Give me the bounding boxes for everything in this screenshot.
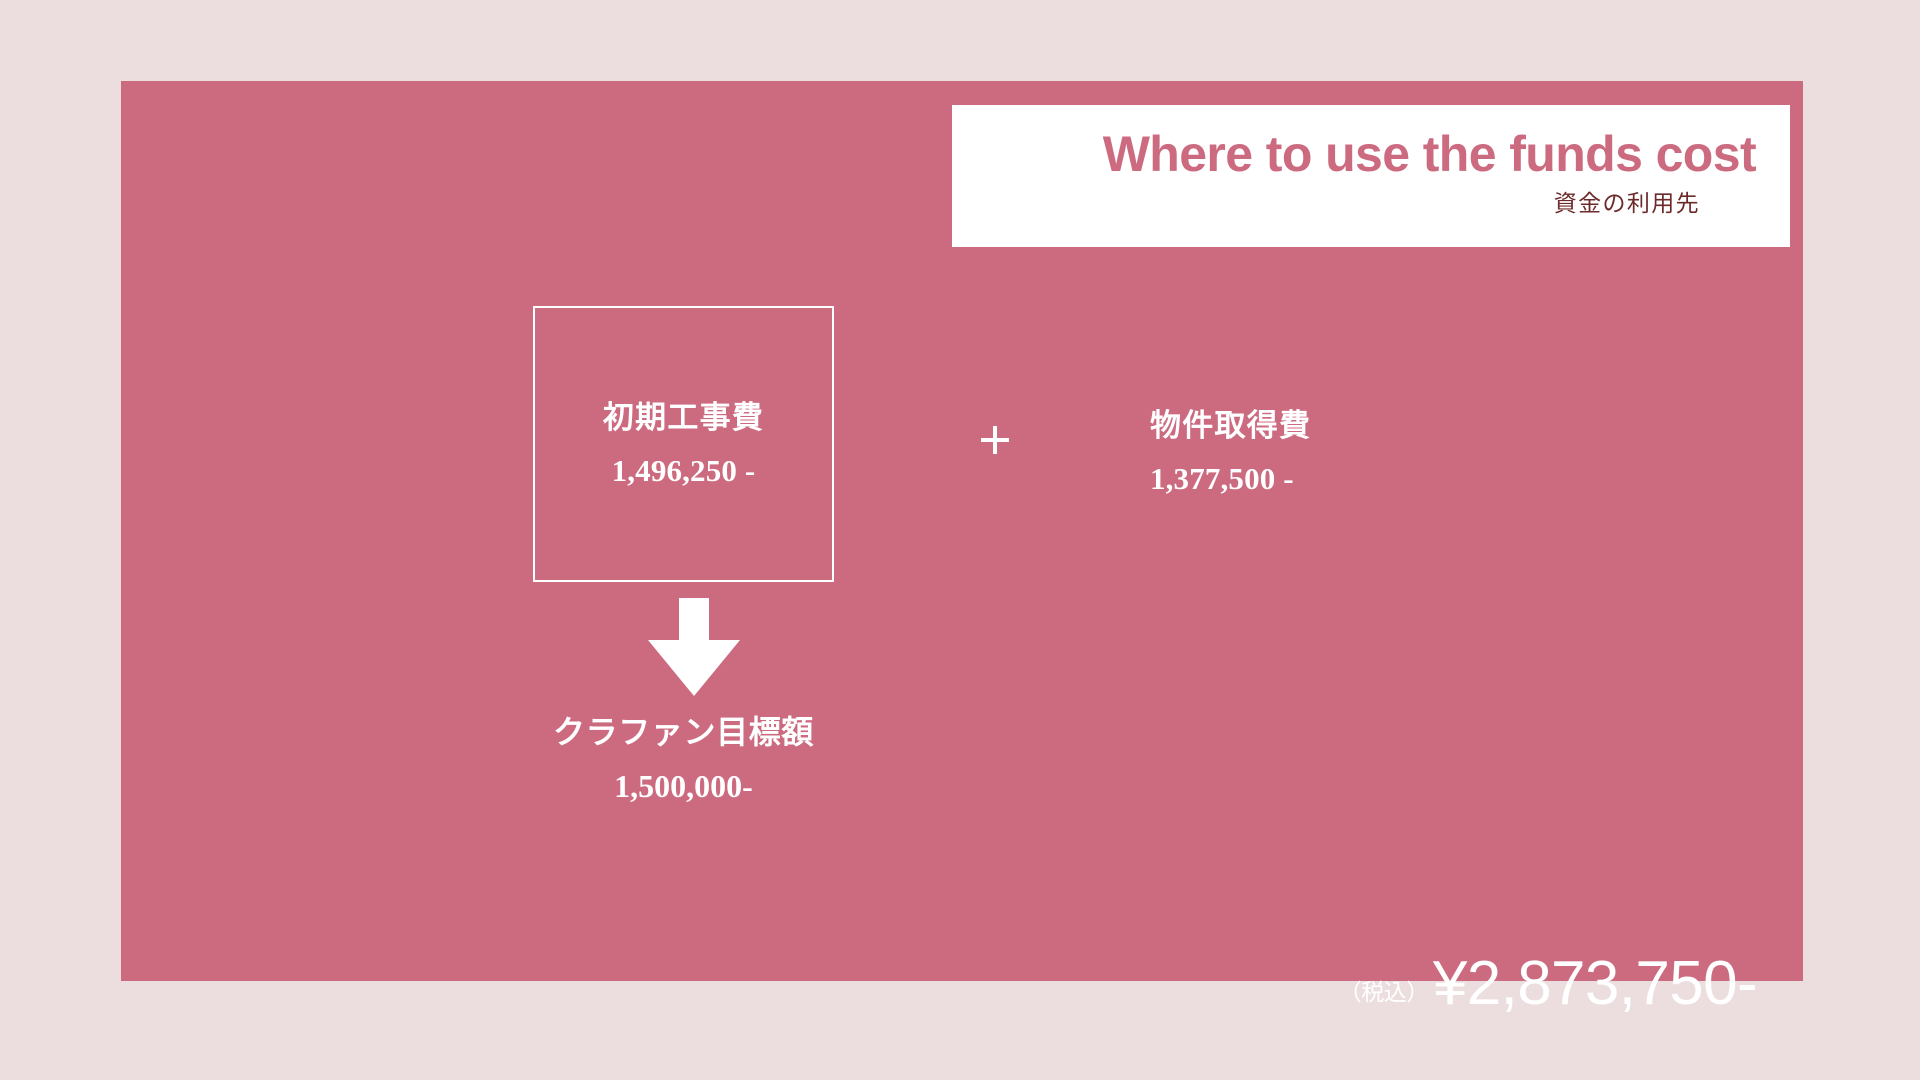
page-title: Where to use the funds cost (952, 129, 1756, 179)
cost-item-amount: 1,377,500 - (1150, 463, 1450, 494)
cost-item-initial-construction: 初期工事費 1,496,250 - (533, 306, 834, 582)
tax-included-note: （税込） (1339, 981, 1429, 1015)
cost-item-label: 初期工事費 (603, 402, 764, 433)
title-card: Where to use the funds cost 資金の利用先 (952, 105, 1790, 247)
plus-icon (981, 426, 1009, 454)
cost-item-property-acquisition: 物件取得費 1,377,500 - (1150, 410, 1450, 494)
goal-amount: 1,500,000- (533, 770, 834, 802)
cost-item-amount: 1,496,250 - (612, 455, 756, 486)
slide-canvas: Where to use the funds cost 資金の利用先 初期工事費… (0, 0, 1920, 1080)
total-amount: ¥2,873,750- (1433, 953, 1757, 1015)
content-panel: Where to use the funds cost 資金の利用先 初期工事費… (121, 81, 1803, 981)
crowdfunding-goal: クラファン目標額 1,500,000- (533, 716, 834, 802)
goal-label: クラファン目標額 (533, 716, 834, 748)
page-subtitle: 資金の利用先 (952, 192, 1756, 215)
total-cost: （税込） ¥2,873,750- (1339, 953, 1757, 1015)
cost-item-label: 物件取得費 (1150, 410, 1450, 441)
arrow-down-icon (648, 598, 740, 696)
